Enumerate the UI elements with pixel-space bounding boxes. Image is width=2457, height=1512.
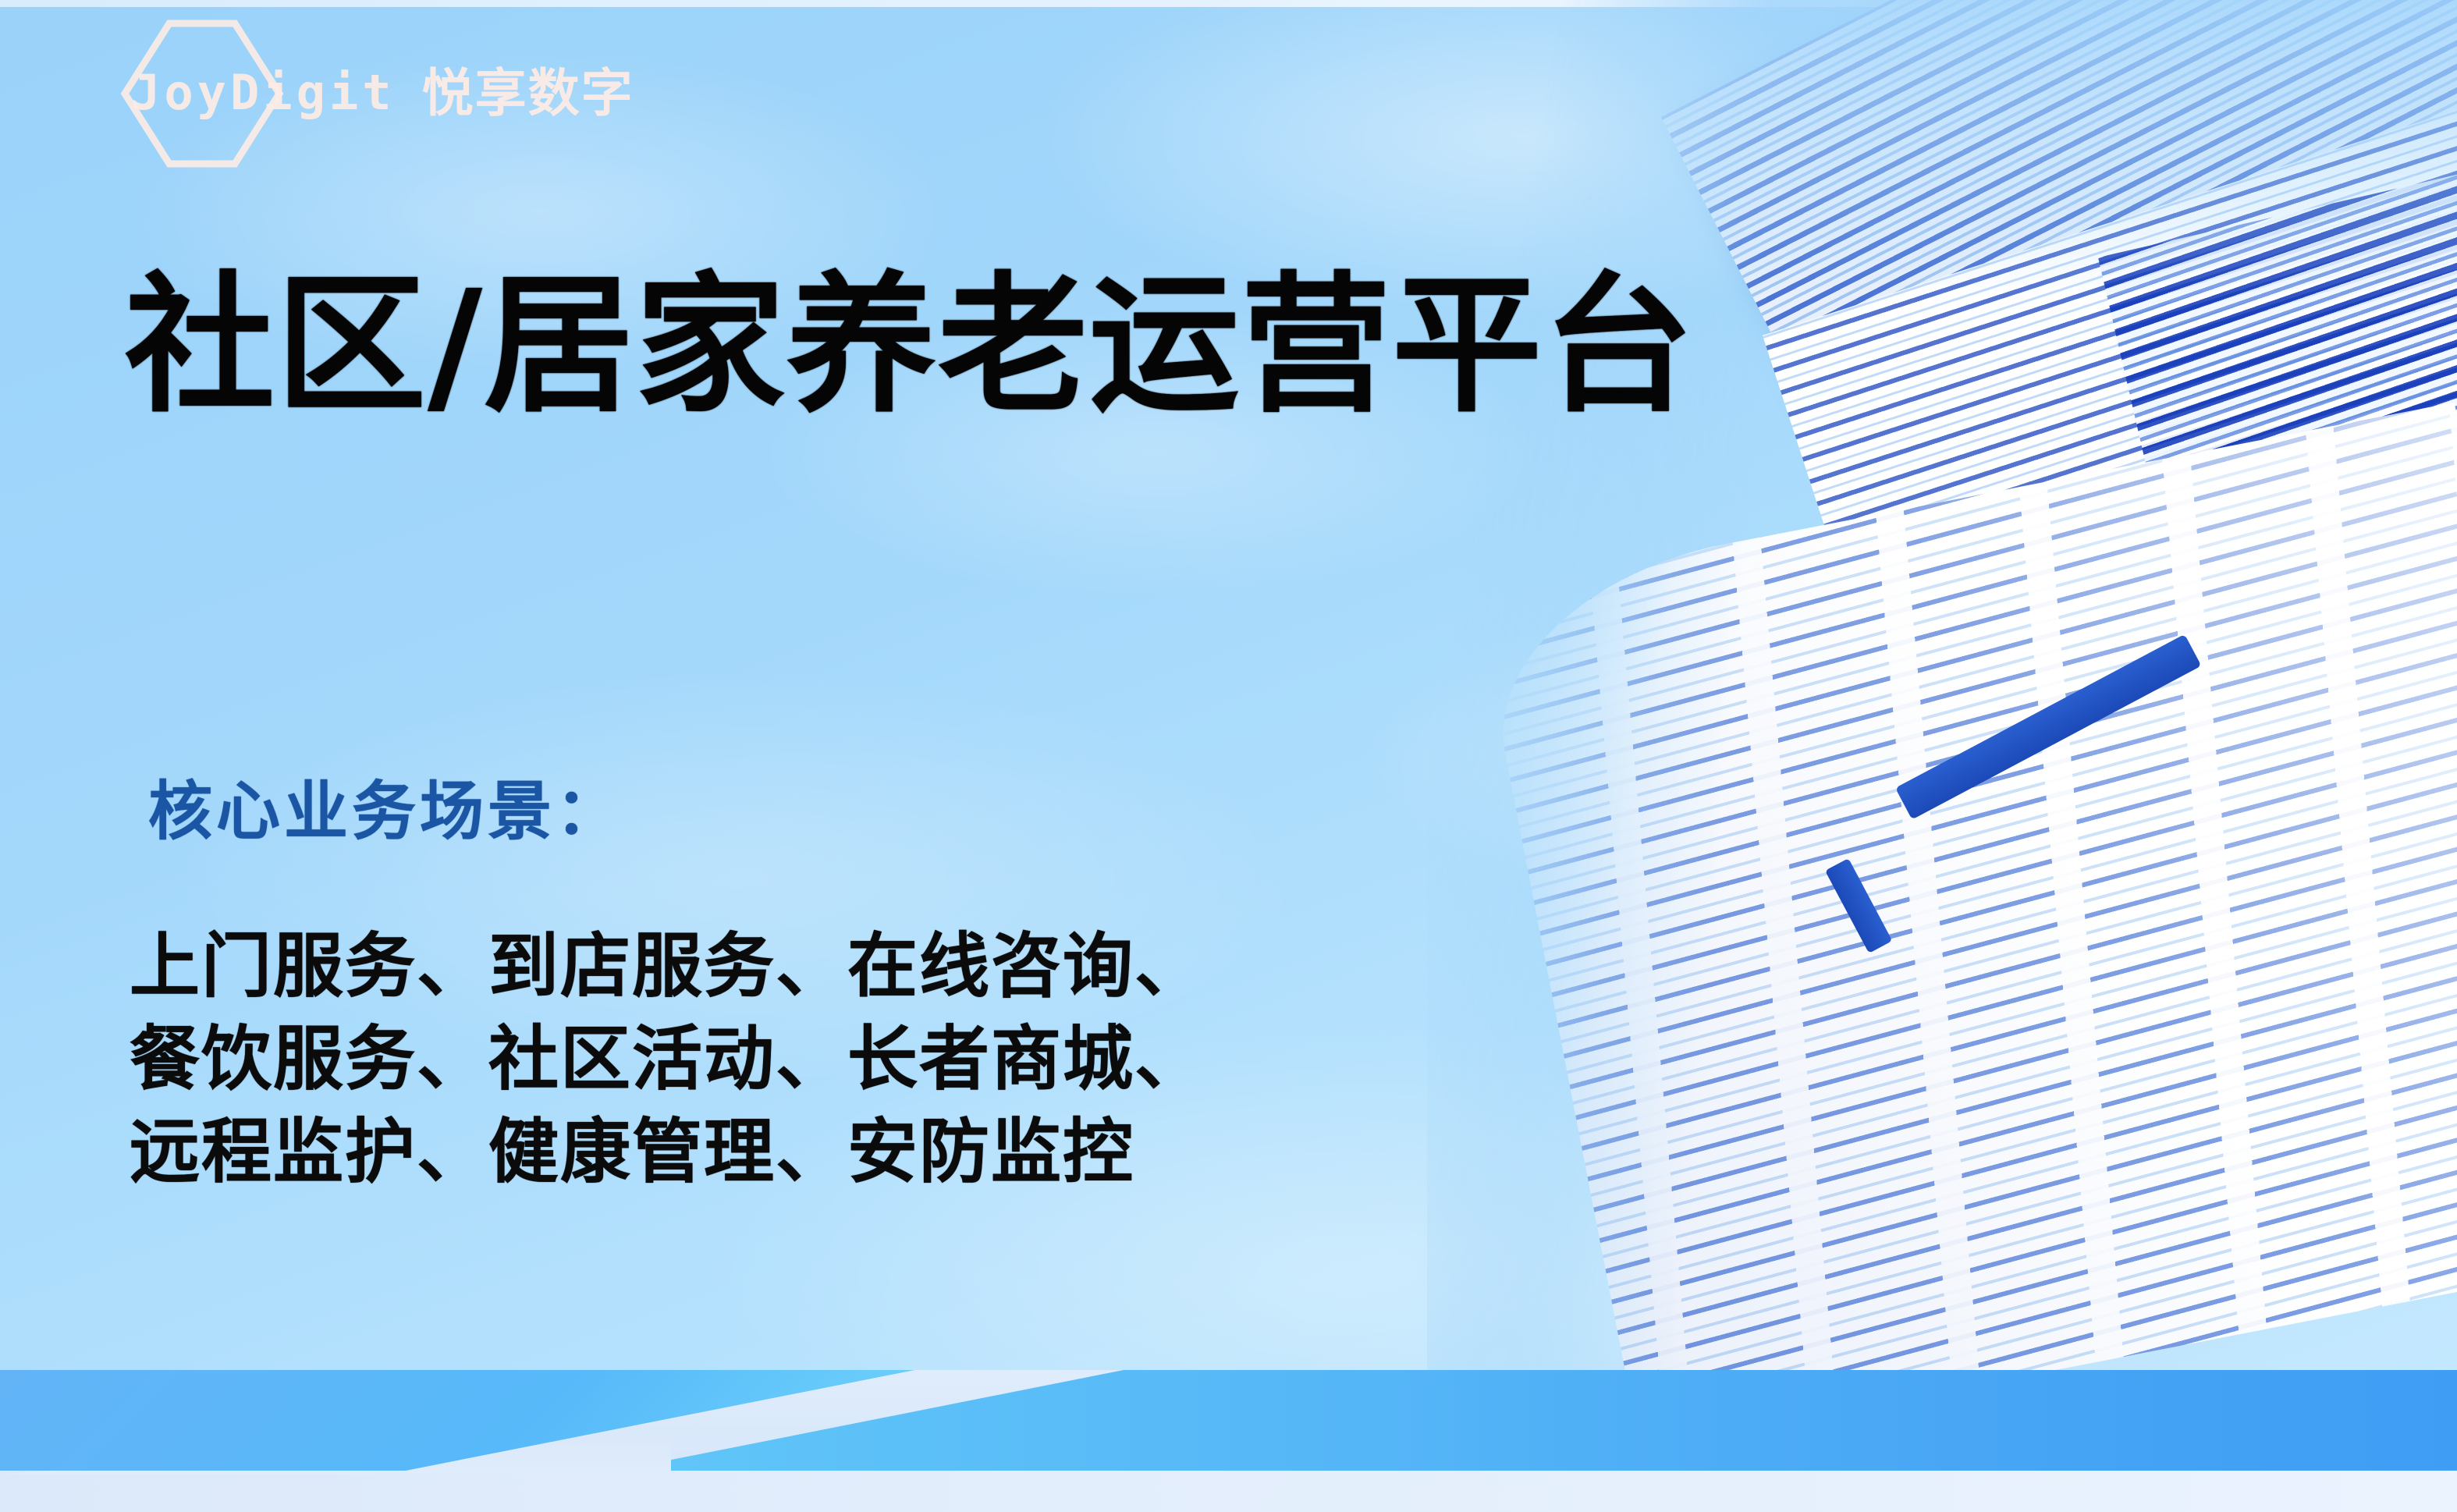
bottom-banner-underline-strip: [0, 1471, 2457, 1512]
brand-logo[interactable]: JoyDigit 悦享数字: [131, 59, 634, 126]
scenario-line: 餐饮服务、社区活动、长者商城、: [130, 1013, 1206, 1106]
skyscraper-photo: [1427, 0, 2457, 1373]
scenario-line: 远程监护、健康管理、安防监控: [130, 1106, 1206, 1199]
page-title: 社区/居家养老运营平台: [125, 272, 1695, 421]
logo-wordmark: JoyDigit: [131, 69, 396, 117]
photo-left-fade: [1427, 0, 2457, 1373]
slide-canvas: JoyDigit 悦享数字 社区/居家养老运营平台 核心业务场景： 上门服务、到…: [0, 0, 2457, 1512]
scenario-line: 上门服务、到店服务、在线咨询、: [130, 921, 1206, 1013]
section-subheading: 核心业务场景：: [148, 780, 623, 844]
logo-chinese-name: 悦享数字: [422, 67, 634, 119]
scenario-list: 上门服务、到店服务、在线咨询、 餐饮服务、社区活动、长者商城、 远程监护、健康管…: [130, 921, 1206, 1198]
